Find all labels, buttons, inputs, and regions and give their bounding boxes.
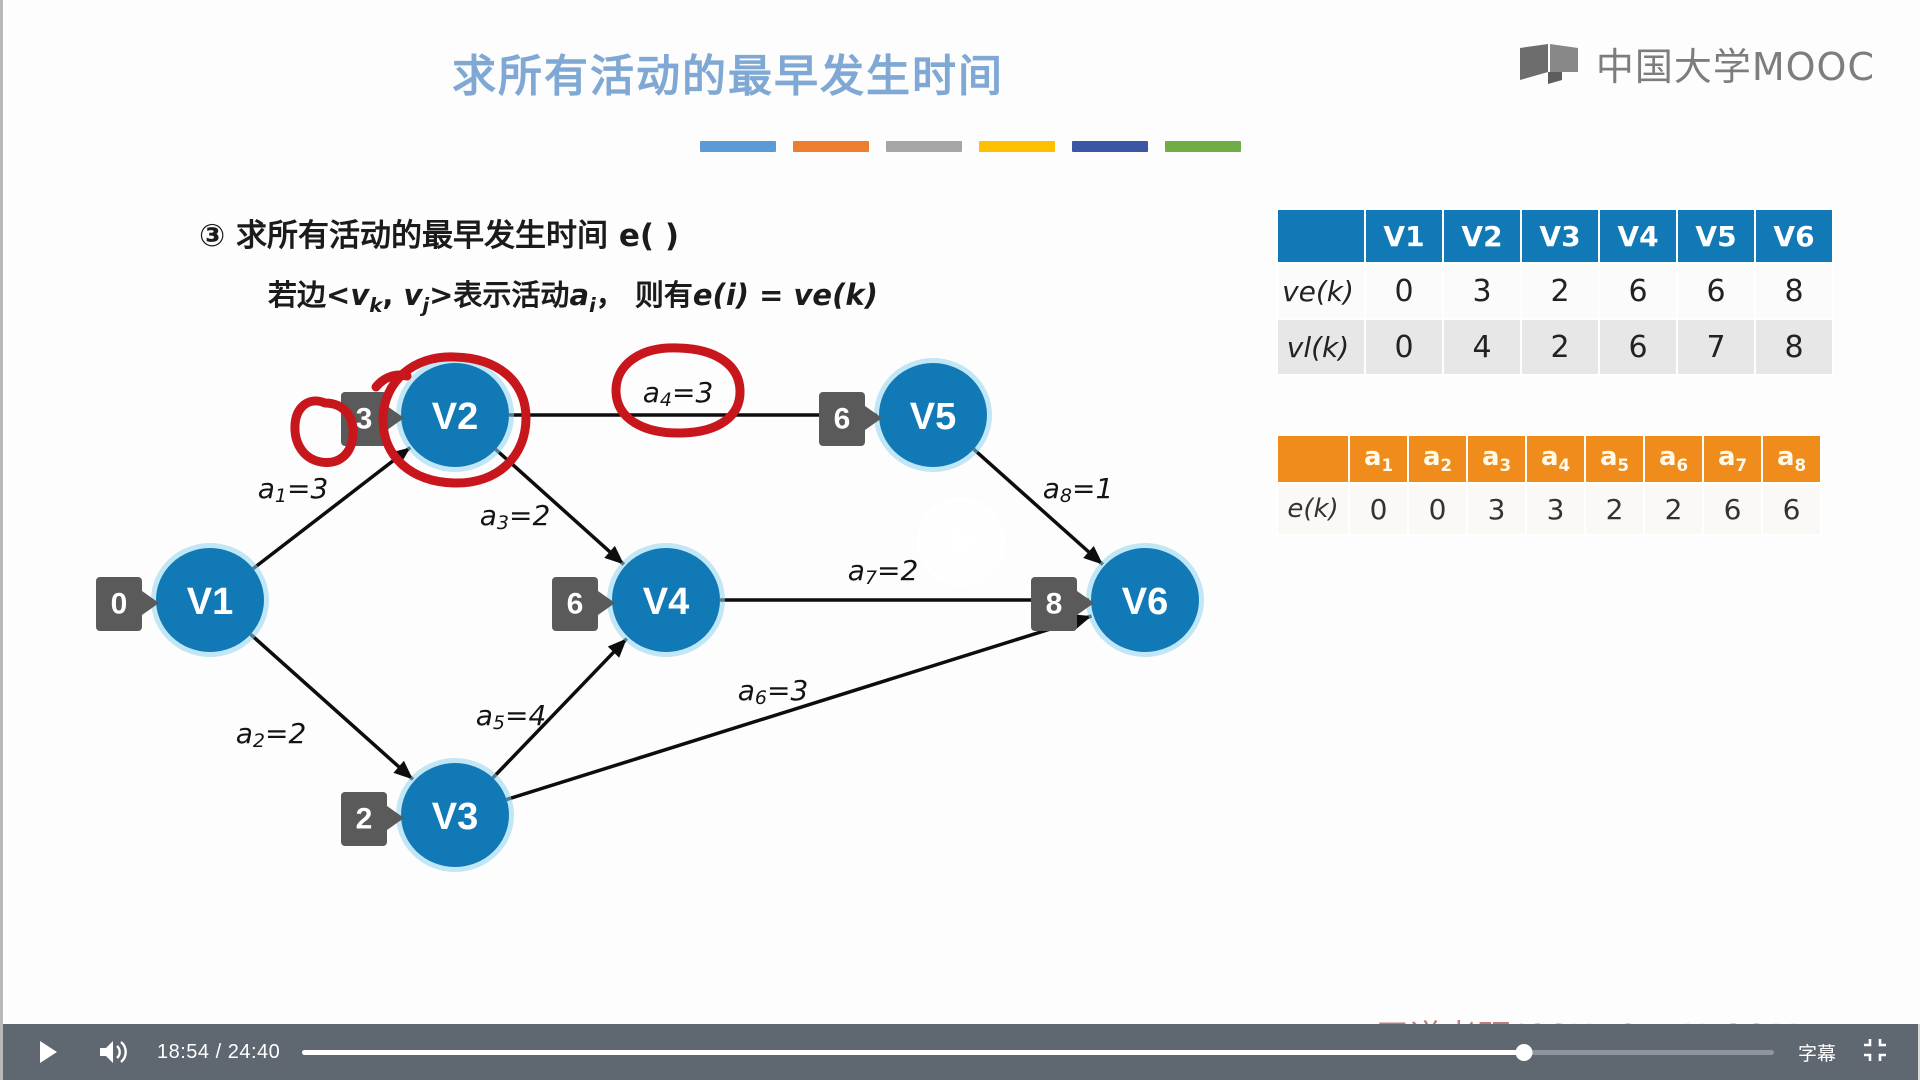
subtitle-button[interactable]: 字幕 <box>1798 1039 1836 1066</box>
table-cell: 0 <box>1408 483 1467 535</box>
badge-value-V3: 2 <box>356 803 373 836</box>
column-header-a3: a3 <box>1467 435 1526 483</box>
table-header-row: a1a2a3a4a5a6a7a8 <box>1277 435 1821 483</box>
table-row: ve(k)032668 <box>1277 263 1833 319</box>
column-header-v3: V3 <box>1521 209 1599 263</box>
column-header-a1: a1 <box>1349 435 1408 483</box>
table-cell: 0 <box>1349 483 1408 535</box>
ve-vl-table: V1V2V3V4V5V6 ve(k)032668vl(k)042678 <box>1276 208 1834 376</box>
badge-value-V4: 6 <box>567 588 584 621</box>
title-accent-bar-6 <box>1165 141 1241 152</box>
title-accent-bar-3 <box>886 141 962 152</box>
fullscreen-button[interactable] <box>1862 1037 1896 1068</box>
column-header-a4: a4 <box>1526 435 1585 483</box>
volume-button[interactable] <box>85 1024 141 1080</box>
table-cell: 6 <box>1677 263 1755 319</box>
badge-V3: 2 <box>341 792 404 846</box>
node-V3: V3 <box>396 758 514 872</box>
formula-ai-sub: i <box>589 294 596 317</box>
table-cell: 8 <box>1755 263 1833 319</box>
formula-prefix: 若边< <box>268 278 350 312</box>
badge-V1: 0 <box>96 577 159 631</box>
table-cell: 6 <box>1703 483 1762 535</box>
edge-label-a3: a3=2 <box>480 499 551 535</box>
formula-tail: ， 则有 <box>596 278 693 312</box>
table-cell: 3 <box>1467 483 1526 535</box>
formula-sep: , <box>382 278 403 312</box>
time-display: 18:54 / 24:40 <box>157 1041 280 1064</box>
play-icon <box>40 1041 57 1063</box>
column-header-v1: V1 <box>1365 209 1443 263</box>
aoe-graph: V1V2V3V4V5V6 032668 a1=3a2=2a3=2a4=3a5=4… <box>3 330 1303 1024</box>
edge-label-a5: a5=4 <box>476 699 547 735</box>
progress-handle[interactable] <box>1515 1044 1532 1061</box>
badge-value-V1: 0 <box>111 588 128 621</box>
formula-equation: e(i) = ve(k) <box>693 278 878 312</box>
edge-label-a6: a6=3 <box>738 674 809 710</box>
player-controls: 18:54 / 24:40 字幕 <box>3 1024 1918 1080</box>
table-cell: 3 <box>1526 483 1585 535</box>
column-header-a5: a5 <box>1585 435 1644 483</box>
slide-canvas: 求所有活动的最早发生时间 中国大学MOOC ③ 求所有活动的最早发生时间 e( … <box>3 0 1920 1024</box>
edge-V3-V6 <box>507 616 1092 799</box>
table-cell: 3 <box>1443 263 1521 319</box>
column-header-v2: V2 <box>1443 209 1521 263</box>
table-cell: 0 <box>1365 263 1443 319</box>
formula-vk: v <box>350 278 369 312</box>
e-table: a1a2a3a4a5a6a7a8 e(k)00332266 <box>1276 434 1822 536</box>
column-header-v5: V5 <box>1677 209 1755 263</box>
node-V4: V4 <box>607 543 725 657</box>
title-accent-bar-4 <box>979 141 1055 152</box>
progress-fill <box>302 1050 1524 1055</box>
badge-value-V6: 8 <box>1046 588 1063 621</box>
table-cell: 8 <box>1755 319 1833 375</box>
formula-ai: a <box>569 278 589 312</box>
slide-formula: 若边<vk, vj>表示活动ai， 则有e(i) = ve(k) <box>268 272 878 317</box>
row-header: ve(k) <box>1277 263 1365 319</box>
title-accent-bars <box>700 141 1241 152</box>
node-V2: V2 <box>396 358 514 472</box>
slide-heading-text: 求所有活动的最早发生时间 e( ) <box>236 218 679 254</box>
play-triangle-icon <box>950 524 980 560</box>
table-cell: 2 <box>1585 483 1644 535</box>
table-row: vl(k)042678 <box>1277 319 1833 375</box>
table-cell: 6 <box>1599 319 1677 375</box>
badge-value-V5: 6 <box>834 403 851 436</box>
table-cell: 0 <box>1365 319 1443 375</box>
title-accent-bar-5 <box>1072 141 1148 152</box>
title-accent-bar-2 <box>793 141 869 152</box>
badge-value-V2: 3 <box>356 403 373 436</box>
center-play-button[interactable] <box>917 498 1005 586</box>
node-V5: V5 <box>874 358 992 472</box>
mooc-logo: 中国大学MOOC <box>1518 36 1875 91</box>
table-header-row: V1V2V3V4V5V6 <box>1277 209 1833 263</box>
table-cell: 6 <box>1762 483 1821 535</box>
formula-mid: >表示活动 <box>429 278 569 312</box>
badge-V6: 8 <box>1031 577 1094 631</box>
column-header-a7: a7 <box>1703 435 1762 483</box>
node-label-V1: V1 <box>187 581 233 623</box>
page-title: 求所有活动的最早发生时间 <box>3 40 1453 104</box>
table-cell: 4 <box>1443 319 1521 375</box>
edge-label-a8: a8=1 <box>1043 472 1114 508</box>
node-label-V6: V6 <box>1122 581 1168 623</box>
edge-label-a4: a4=3 <box>643 376 714 412</box>
edge-label-a1: a1=3 <box>258 472 329 508</box>
table-corner-cell <box>1277 209 1365 263</box>
column-header-a8: a8 <box>1762 435 1821 483</box>
column-header-v4: V4 <box>1599 209 1677 263</box>
table-row: e(k)00332266 <box>1277 483 1821 535</box>
badge-V4: 6 <box>552 577 615 631</box>
node-V6: V6 <box>1086 543 1204 657</box>
edge-label-a2: a2=2 <box>236 717 307 753</box>
node-label-V5: V5 <box>910 396 956 438</box>
slide-heading-number: ③ <box>199 218 225 254</box>
book-icon <box>1518 42 1582 86</box>
play-button[interactable] <box>25 1024 71 1080</box>
node-label-V4: V4 <box>643 581 689 623</box>
table-cell: 2 <box>1521 319 1599 375</box>
exit-fullscreen-icon <box>1862 1037 1888 1063</box>
node-label-V3: V3 <box>432 796 478 838</box>
node-label-V2: V2 <box>432 396 478 438</box>
table-cell: 2 <box>1644 483 1703 535</box>
progress-bar[interactable] <box>302 1024 1774 1080</box>
video-player: 求所有活动的最早发生时间 中国大学MOOC ③ 求所有活动的最早发生时间 e( … <box>0 0 1920 1080</box>
column-header-a2: a2 <box>1408 435 1467 483</box>
table-body: ve(k)032668vl(k)042678 <box>1277 263 1833 375</box>
slide-heading: ③ 求所有活动的最早发生时间 e( ) <box>199 210 679 255</box>
table-cell: 7 <box>1677 319 1755 375</box>
table-cell: 2 <box>1521 263 1599 319</box>
column-header-v6: V6 <box>1755 209 1833 263</box>
node-V1: V1 <box>151 543 269 657</box>
badge-V5: 6 <box>819 392 882 446</box>
column-header-a6: a6 <box>1644 435 1703 483</box>
table-cell: 6 <box>1599 263 1677 319</box>
mooc-logo-text: 中国大学MOOC <box>1596 36 1875 91</box>
title-accent-bar-1 <box>700 141 776 152</box>
edge-label-a7: a7=2 <box>848 554 919 590</box>
volume-icon <box>98 1039 128 1065</box>
table-body: e(k)00332266 <box>1277 483 1821 535</box>
formula-vj: v <box>403 278 422 312</box>
formula-vk-sub: k <box>369 294 382 317</box>
edge-V1-V3 <box>251 634 413 779</box>
